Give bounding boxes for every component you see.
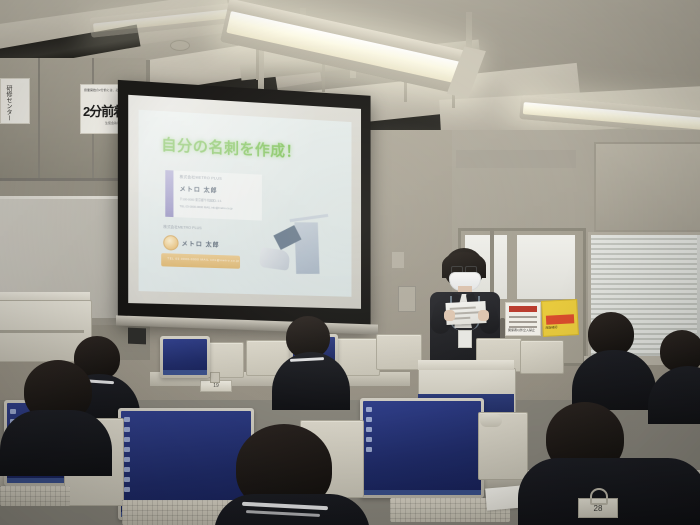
student bbox=[0, 360, 110, 470]
door-notice-yellow-text: 施錠確認 bbox=[545, 325, 557, 330]
student-uniform bbox=[0, 410, 112, 476]
desktop-tower bbox=[376, 334, 422, 370]
student-uniform bbox=[572, 350, 656, 410]
monitor bbox=[360, 398, 484, 498]
student bbox=[572, 312, 656, 408]
mouse[interactable] bbox=[480, 414, 502, 427]
ceiling-sensor-icon bbox=[170, 40, 190, 51]
monitor bbox=[160, 336, 210, 378]
wall-panel bbox=[594, 142, 700, 232]
wall-poster-left: 研修センター bbox=[0, 78, 30, 124]
tag-clip-icon bbox=[590, 488, 608, 505]
printer-lid bbox=[418, 360, 514, 370]
student-sailor-uniform bbox=[214, 494, 370, 525]
student: 28 bbox=[518, 402, 700, 525]
poster-left-text: 研修センター bbox=[4, 85, 13, 121]
student bbox=[272, 316, 350, 408]
plate-clip bbox=[210, 372, 220, 383]
id-badge bbox=[458, 330, 472, 348]
desktop-tower bbox=[520, 340, 564, 374]
wall-outlet-box bbox=[398, 286, 416, 312]
door-notice-red: 関係者以外立入禁止 bbox=[505, 302, 541, 336]
wall-duct bbox=[456, 150, 576, 168]
light-switch[interactable] bbox=[392, 252, 404, 268]
printer-tray bbox=[0, 330, 84, 333]
screen-glare bbox=[128, 95, 361, 309]
classroom-photo: 研修センター 授業開始の2分前には、必ず着席 2分前着席 生徒会執行部 自分の名… bbox=[0, 0, 700, 525]
projection-screen: 自分の名刺を作成！ 株式会社METRO PLUS メトロ 太郎 〒100-000… bbox=[118, 80, 371, 329]
student bbox=[214, 424, 370, 525]
instructor-hand-left bbox=[444, 310, 455, 321]
screen-surface: 自分の名刺を作成！ 株式会社METRO PLUS メトロ 太郎 〒100-000… bbox=[128, 95, 361, 309]
keyboard[interactable] bbox=[0, 486, 70, 506]
door-notice-red-text: 関係者以外立入禁止 bbox=[508, 328, 535, 332]
instructor-hand-right bbox=[478, 310, 489, 321]
monitor-screen bbox=[363, 401, 481, 495]
door-glass-panel bbox=[517, 235, 575, 299]
